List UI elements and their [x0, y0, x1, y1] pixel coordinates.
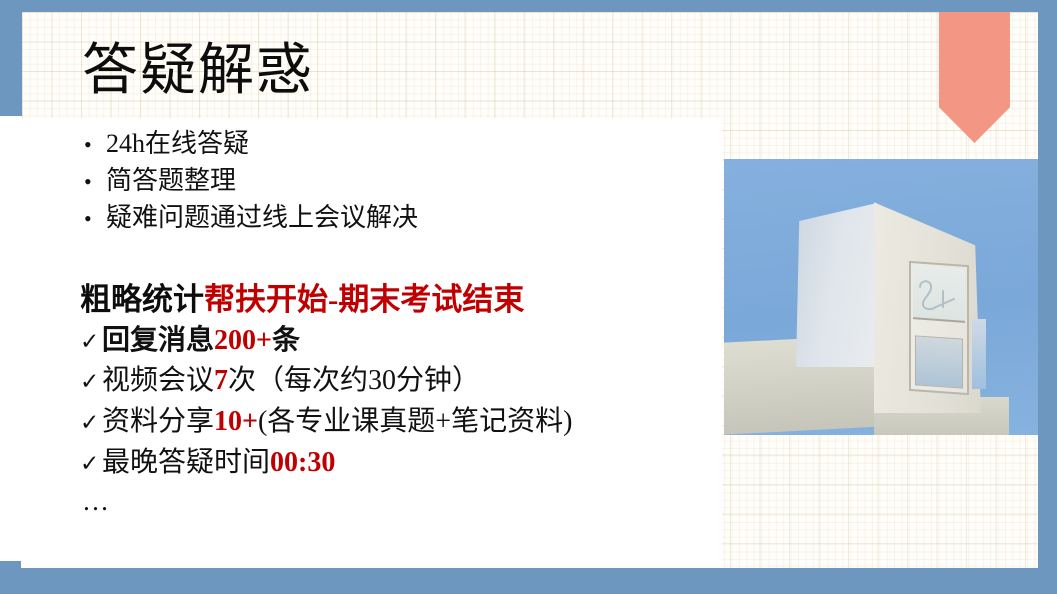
- bullet-dot-icon: •: [84, 208, 106, 230]
- stat-item-unit: (各专业课真题+笔记资料): [258, 403, 572, 442]
- list-item-label: 疑难问题通过线上会议解决: [106, 200, 418, 237]
- statistics-heading: 粗略统计帮扶开始-期末考试结束: [80, 281, 720, 320]
- right-accent-bar: [1038, 12, 1057, 568]
- statistics-heading-black: 粗略统计: [80, 282, 204, 317]
- stat-item: ✓ 最晚答疑时间00:30: [80, 444, 720, 483]
- stat-item-value: 200+: [214, 322, 272, 361]
- top-accent-bar: [0, 0, 1057, 12]
- checkmark-icon: ✓: [80, 326, 102, 358]
- stat-item-unit: 次（每次约30分钟）: [228, 362, 480, 401]
- list-item-label: 24h在线答疑: [106, 126, 249, 163]
- stat-item-label: 视频会议: [102, 362, 214, 401]
- stat-item-value: 10+: [214, 403, 258, 442]
- tower-edge-notch: [972, 319, 986, 389]
- statistics-block: 粗略统计帮扶开始-期末考试结束 ✓ 回复消息200+条 ✓ 视频会议7次（每次约…: [80, 281, 720, 517]
- stat-item: ✓ 资料分享10+(各专业课真题+笔记资料): [80, 403, 720, 442]
- bullet-list: • 24h在线答疑 • 简答题整理 • 疑难问题通过线上会议解决: [84, 126, 704, 237]
- list-item: • 疑难问题通过线上会议解决: [84, 200, 704, 237]
- tower-left-face: [796, 203, 877, 367]
- stat-item-label: 回复消息: [102, 322, 214, 361]
- stat-item-value: 00:30: [270, 444, 335, 483]
- bottom-accent-bar: [0, 568, 1057, 594]
- list-item: • 简答题整理: [84, 163, 704, 200]
- stat-item: ✓ 回复消息200+条: [80, 322, 720, 361]
- building-photo: [724, 159, 1038, 435]
- checkmark-icon: ✓: [80, 366, 102, 398]
- window-script-squiggle-icon: [914, 277, 960, 315]
- window-glass-lower: [915, 335, 963, 388]
- stat-item-label: 资料分享: [102, 403, 214, 442]
- bullet-dot-icon: •: [84, 134, 106, 156]
- stat-item-value: 7: [214, 362, 228, 401]
- bullet-dot-icon: •: [84, 171, 106, 193]
- page-title: 答疑解惑: [82, 42, 314, 101]
- statistics-heading-red: 帮扶开始-期末考试结束: [204, 282, 524, 317]
- stat-item-unit: 条: [272, 322, 300, 361]
- checkmark-icon: ✓: [80, 407, 102, 439]
- ellipsis-text: …: [80, 486, 720, 517]
- list-item-label: 简答题整理: [106, 163, 236, 200]
- list-item: • 24h在线答疑: [84, 126, 704, 163]
- left-accent-bar: [0, 10, 22, 116]
- stat-item-label: 最晚答疑时间: [102, 444, 270, 483]
- slide-canvas: 答疑解惑 • 24h在线答疑 • 简答题整理 • 疑难问题通过线上会议解决 粗略…: [0, 0, 1057, 594]
- stat-item: ✓ 视频会议7次（每次约30分钟）: [80, 362, 720, 401]
- checkmark-icon: ✓: [80, 448, 102, 480]
